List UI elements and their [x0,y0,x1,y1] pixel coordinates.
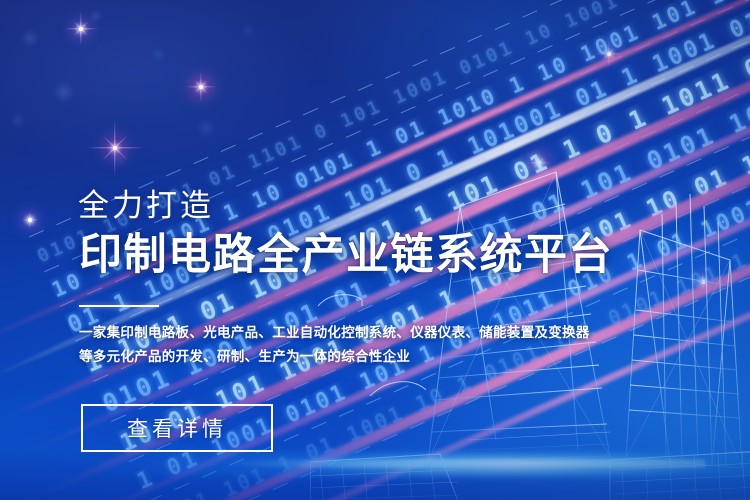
banner-headline: 印制电路全产业链系统平台 [79,233,638,279]
description-line-2: 等多元化产品的开发、研制、生产为一体的综合性企业 [79,345,638,369]
banner-description: 一家集印制电路板、光电产品、工业自动化控制系统、仪器仪表、储能装置及变换器 等多… [79,321,638,369]
star-top-left-icon [64,12,98,46]
divider-rule [79,305,159,307]
hero-banner: 0101 10 1001 01 1101 0 101 1001 0101 10 … [0,0,750,500]
view-details-button[interactable]: 查看详情 [81,404,273,452]
banner-eyebrow: 全力打造 [78,190,638,221]
banner-content: 全力打造 印制电路全产业链系统平台 一家集印制电路板、光电产品、工业自动化控制系… [78,190,638,369]
description-line-1: 一家集印制电路板、光电产品、工业自动化控制系统、仪器仪表、储能装置及变换器 [79,321,638,345]
